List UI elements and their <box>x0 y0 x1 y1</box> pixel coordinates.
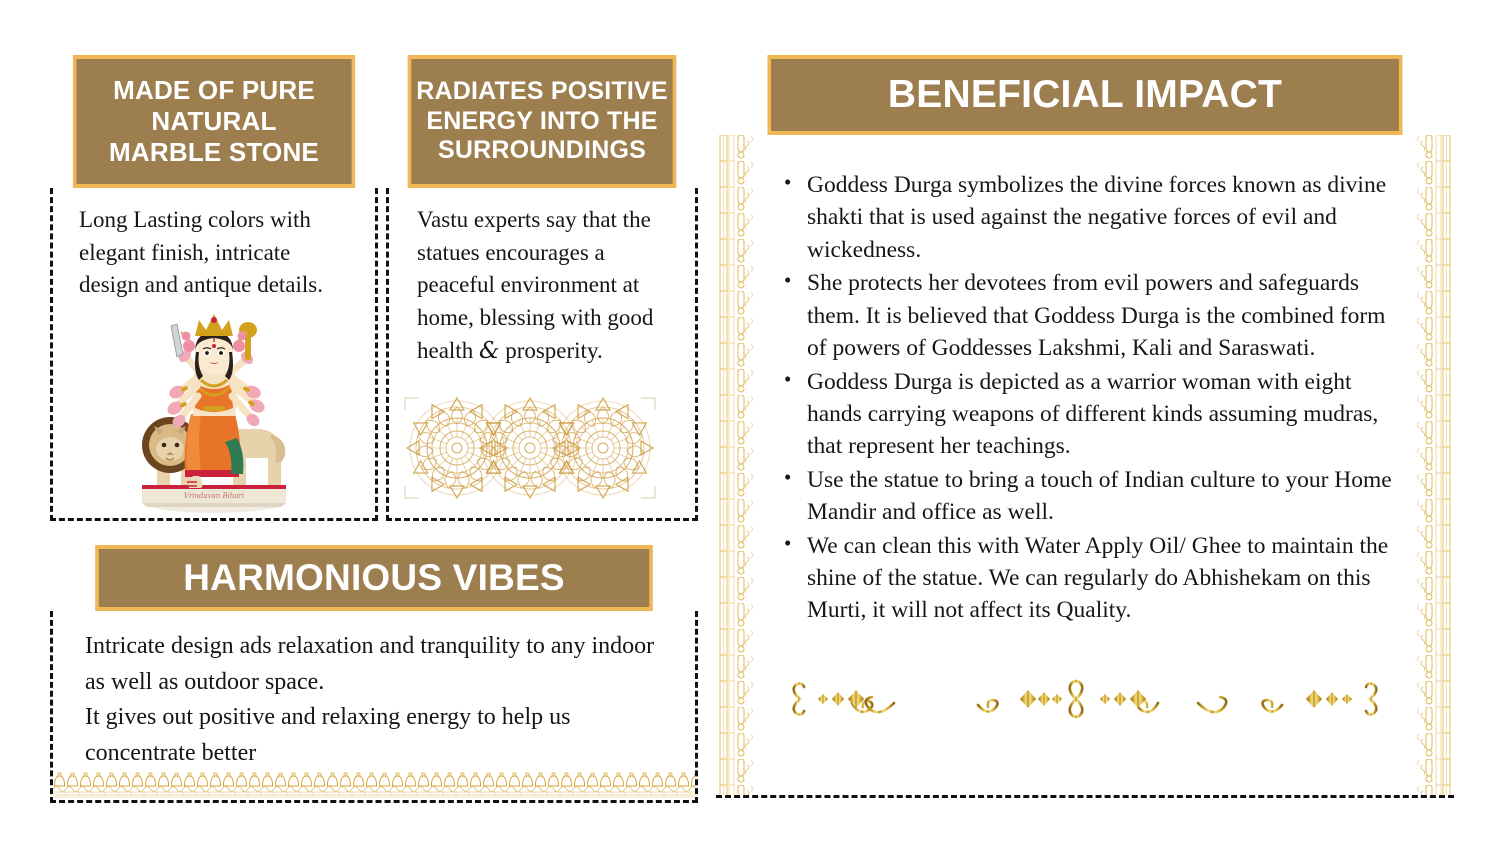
list-item: Goddess Durga is depicted as a warrior w… <box>780 366 1392 463</box>
svg-text:Vrindavan Bihari: Vrindavan Bihari <box>184 492 244 500</box>
card-marble-body: Long Lasting colors with elegant finish,… <box>50 188 378 521</box>
beneficial-impact-bullet-list: Goddess Durga symbolizes the divine forc… <box>780 169 1392 627</box>
card-vastu-header: RADIATES POSITIVE ENERGY INTO THE SURROU… <box>408 55 676 188</box>
gold-ornamental-border-left-icon <box>718 135 760 795</box>
card-harmonious-vibes: HARMONIOUS VIBES Intricate design ads re… <box>50 545 698 803</box>
panel-right-body: Goddess Durga symbolizes the divine forc… <box>716 135 1454 798</box>
card-vastu-text-part2: prosperity. <box>499 338 602 363</box>
list-item: She protects her devotees from evil powe… <box>780 267 1392 364</box>
list-item: Goddess Durga symbolizes the divine forc… <box>780 169 1392 266</box>
list-item: Use the statue to bring a touch of India… <box>780 464 1392 529</box>
card-harmony-body: Intricate design ads relaxation and tran… <box>50 611 698 803</box>
gold-ornamental-band <box>53 770 695 800</box>
card-harmony-title: HARMONIOUS VIBES <box>54 556 694 600</box>
card-harmony-line2: It gives out positive and relaxing energ… <box>85 700 675 771</box>
gold-ornamental-border-right-icon <box>1410 135 1452 795</box>
card-harmony-header: HARMONIOUS VIBES <box>95 545 652 611</box>
panel-beneficial-impact: BENEFICIAL IMPACT <box>716 55 1454 798</box>
card-vastu-text: Vastu experts say that the statues encou… <box>417 204 677 367</box>
gold-mandala-strip-image <box>399 392 661 504</box>
panel-right-header: BENEFICIAL IMPACT <box>768 55 1403 135</box>
list-item: We can clean this with Water Apply Oil/ … <box>780 530 1392 627</box>
card-harmony-line1: Intricate design ads relaxation and tran… <box>85 629 675 700</box>
durga-marble-statue-image: Vrindavan Bihari <box>121 302 307 516</box>
card-marble-header: MADE OF PURE NATURAL MARBLE STONE <box>73 55 355 188</box>
card-radiates-positive-energy: RADIATES POSITIVE ENERGY INTO THE SURROU… <box>386 55 698 521</box>
ampersand-glyph: & <box>479 338 499 364</box>
card-made-of-pure-natural-marble-stone: MADE OF PURE NATURAL MARBLE STONE Long L… <box>50 55 378 521</box>
card-marble-title: MADE OF PURE NATURAL MARBLE STONE <box>54 75 374 167</box>
gold-flourish-divider-icon <box>782 677 1388 731</box>
panel-right-title: BENEFICIAL IMPACT <box>720 72 1450 118</box>
card-vastu-body: Vastu experts say that the statues encou… <box>386 188 698 521</box>
infographic-page: MADE OF PURE NATURAL MARBLE STONE Long L… <box>0 0 1500 845</box>
card-vastu-title: RADIATES POSITIVE ENERGY INTO THE SURROU… <box>390 77 694 166</box>
card-marble-text: Long Lasting colors with elegant finish,… <box>79 204 353 302</box>
